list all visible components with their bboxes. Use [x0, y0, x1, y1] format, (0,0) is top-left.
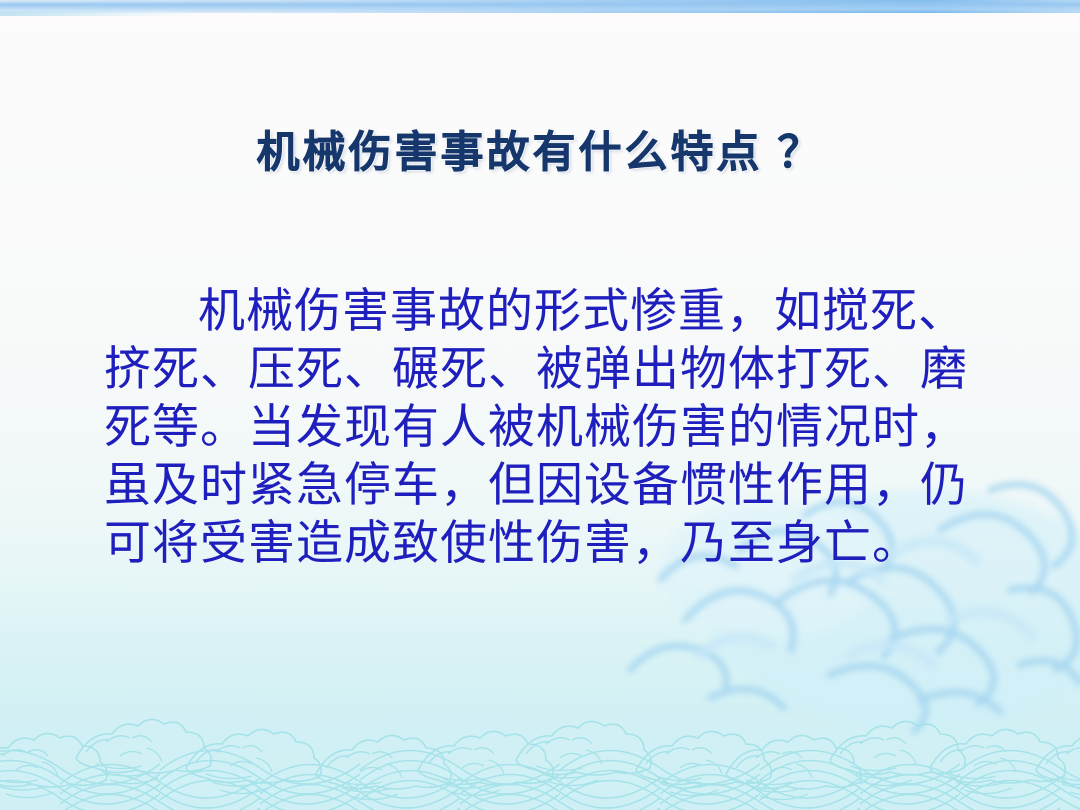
- slide-title: 机械伤害事故有什么特点 ？: [0, 118, 1080, 180]
- slide-content: 机械伤害事故有什么特点 ？ 机械伤害事故的形式惨重，如搅死、 挤死、压死、碾死、…: [0, 0, 1080, 810]
- body-line-5: 可将受害造成致使性伤害，乃至身亡。: [104, 515, 984, 573]
- body-line-1: 机械伤害事故的形式惨重，如搅死、: [104, 283, 984, 341]
- slide-body-text: 机械伤害事故的形式惨重，如搅死、 挤死、压死、碾死、被弹出物体打死、磨 死等。当…: [104, 283, 984, 573]
- slide-canvas: 机械伤害事故有什么特点 ？ 机械伤害事故的形式惨重，如搅死、 挤死、压死、碾死、…: [0, 0, 1080, 810]
- body-line-4: 虽及时紧急停车，但因设备惯性作用，仍: [104, 457, 984, 515]
- body-line-2: 挤死、压死、碾死、被弹出物体打死、磨: [104, 341, 984, 399]
- body-line-3: 死等。当发现有人被机械伤害的情况时，: [104, 399, 984, 457]
